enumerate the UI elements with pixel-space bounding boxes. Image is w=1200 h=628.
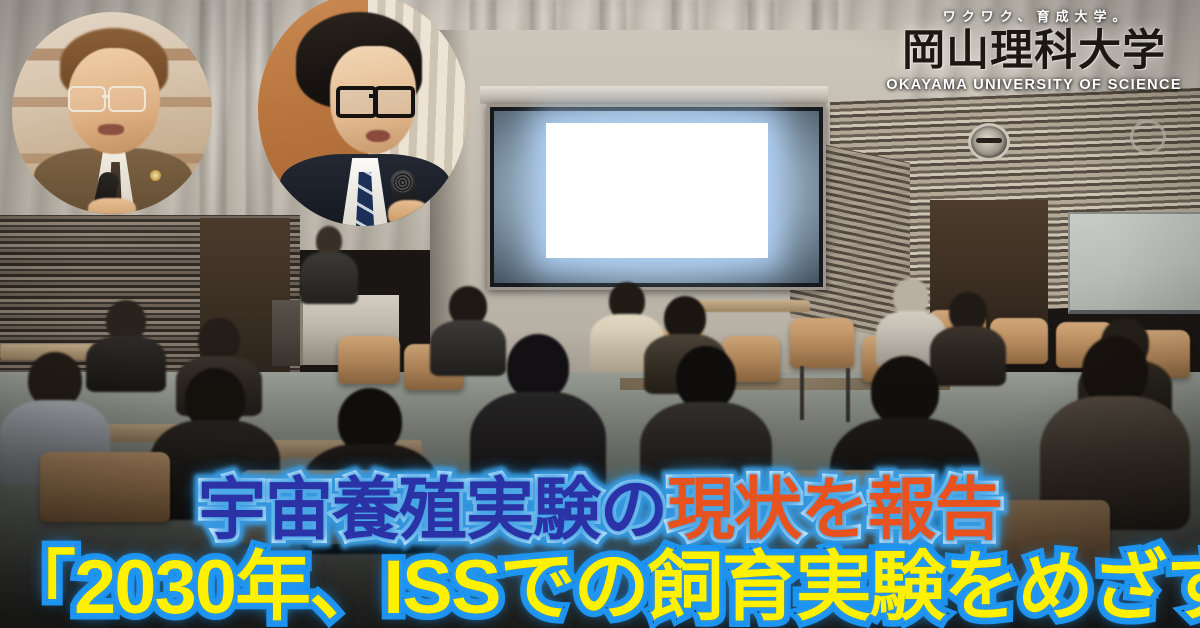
glasses-icon — [68, 86, 106, 112]
portrait-inset-young-presenter — [258, 0, 468, 226]
ceiling-vent-icon — [968, 123, 1010, 161]
chair-leg — [800, 366, 804, 420]
headline-line-2-segment: 「2030年、ISSでの飼育実験をめざす」 「2030年、ISSでの飼育実験をめ… — [0, 550, 1200, 626]
logo-tagline: ワクワク、育成大学。 — [886, 10, 1182, 23]
headline-line-2-text: 「2030年、ISSでの飼育実験をめざす」 — [0, 550, 1200, 626]
logo-name-jp: 岡山理科大学 — [886, 30, 1182, 73]
headline-line-2: 「2030年、ISSでの飼育実験をめざす」 「2030年、ISSでの飼育実験をめ… — [0, 550, 1200, 626]
glasses-bridge — [102, 95, 110, 98]
headline-line-1-blue-text: 宇宙養殖実験の — [198, 476, 667, 544]
glasses-icon — [336, 86, 377, 118]
podium-side — [272, 300, 302, 366]
glasses-icon — [108, 86, 146, 112]
portrait-inset-senior-speaker — [12, 12, 212, 214]
screen-projected-slide — [546, 123, 768, 258]
screen-valance — [480, 86, 828, 104]
headline-line-1-blue-segment: 宇宙養殖実験の 宇宙養殖実験の — [198, 476, 667, 544]
headline-line-1-orange-text: 現状を報告 — [667, 476, 1002, 544]
portrait-a-mouth — [98, 124, 124, 135]
banner-canvas: ワクワク、育成大学。 岡山理科大学 OKAYAMA UNIVERSITY OF … — [0, 0, 1200, 628]
projection-screen — [487, 104, 826, 290]
ceiling-vent-secondary-icon — [1130, 120, 1166, 154]
logo-name-en: OKAYAMA UNIVERSITY OF SCIENCE — [886, 78, 1182, 93]
glasses-bridge — [369, 94, 376, 98]
whiteboard — [1068, 212, 1200, 314]
portrait-a-hand — [88, 198, 136, 214]
university-logo: ワクワク、育成大学。 岡山理科大学 OKAYAMA UNIVERSITY OF … — [886, 10, 1182, 93]
podium-speaker — [300, 226, 358, 302]
chair — [338, 336, 400, 384]
glasses-icon — [374, 86, 415, 118]
headline-line-1: 宇宙養殖実験の 宇宙養殖実験の 現状を報告 現状を報告 — [0, 476, 1200, 544]
headline-block: 宇宙養殖実験の 宇宙養殖実験の 現状を報告 現状を報告 「2030年、ISSでの… — [0, 476, 1200, 626]
screen-surface — [494, 111, 819, 283]
portrait-b-mouth — [366, 130, 390, 142]
vent-louver — [976, 138, 1002, 143]
microphone-mesh — [390, 170, 414, 194]
portrait-b-hand — [388, 200, 430, 226]
headline-line-1-orange-segment: 現状を報告 現状を報告 — [667, 476, 1002, 544]
lapel-pin-icon — [150, 170, 161, 181]
